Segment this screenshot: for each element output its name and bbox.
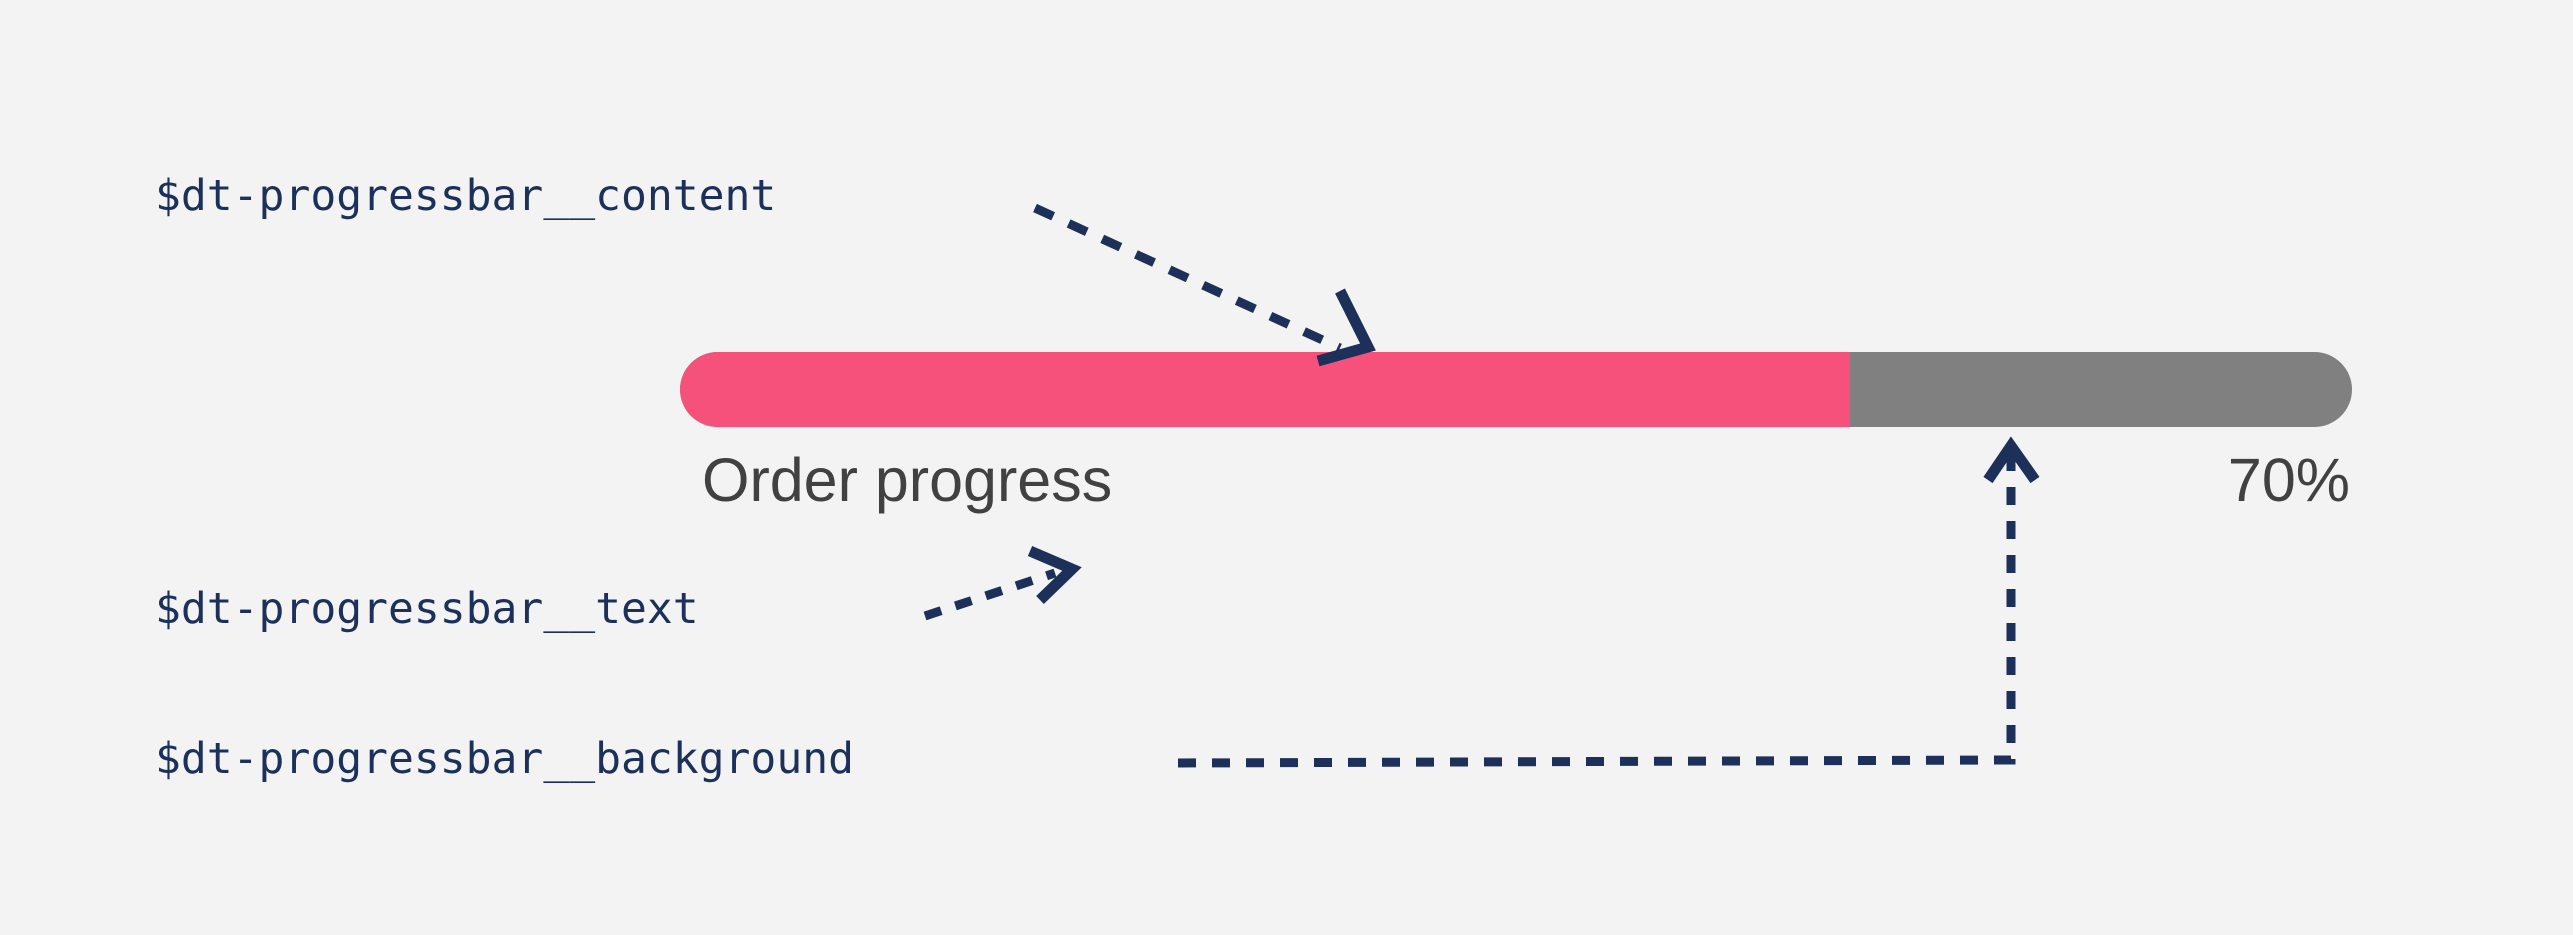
progressbar-caption: Order progress 70% [680, 439, 2352, 521]
arrow-content [1035, 208, 1368, 361]
annotation-label-text: $dt-progressbar__text [155, 588, 699, 631]
progressbar[interactable]: Order progress 70% [680, 352, 2352, 521]
progressbar-background[interactable] [680, 352, 2352, 427]
annotation-label-content: $dt-progressbar__content [155, 175, 776, 218]
progressbar-value: 70% [2228, 450, 2352, 511]
anatomy-diagram: $dt-progressbar__content $dt-progressbar… [0, 0, 2573, 935]
arrow-text [925, 551, 1072, 616]
progressbar-content [680, 352, 1850, 427]
annotation-label-background: $dt-progressbar__background [155, 738, 854, 781]
progressbar-text: Order progress [680, 450, 1112, 511]
